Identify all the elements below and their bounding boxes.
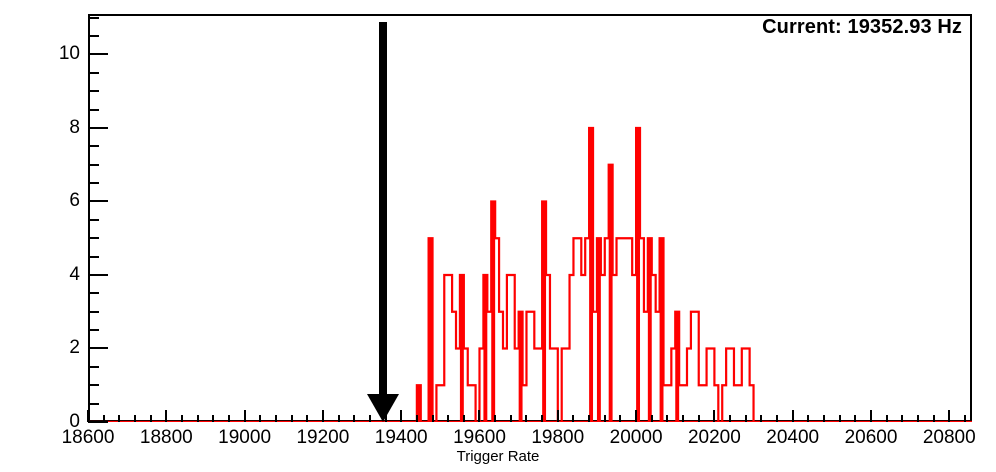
histogram-canvas <box>88 14 972 422</box>
x-axis-minor-tick <box>933 415 935 422</box>
x-axis-minor-tick <box>964 415 966 422</box>
histogram-bin <box>429 238 433 422</box>
x-axis-minor-tick <box>259 415 261 422</box>
x-axis-minor-tick <box>698 415 700 422</box>
x-axis-tick-label: 19400 <box>356 428 446 447</box>
y-axis-minor-tick <box>88 109 99 111</box>
x-axis-major-tick <box>478 410 480 422</box>
x-axis-minor-tick <box>510 415 512 422</box>
x-axis-minor-tick <box>134 415 136 422</box>
x-axis-tick-label: 18800 <box>121 428 211 447</box>
x-axis-minor-tick <box>541 415 543 422</box>
histogram-outline <box>417 128 769 422</box>
x-axis-minor-tick <box>212 415 214 422</box>
x-axis-minor-tick <box>572 415 574 422</box>
y-axis-major-tick <box>88 274 108 276</box>
x-axis-minor-tick <box>588 415 590 422</box>
x-axis-tick-label: 20400 <box>748 428 838 447</box>
x-axis-minor-tick <box>197 415 199 422</box>
x-axis-minor-tick <box>338 415 340 422</box>
x-axis-minor-tick <box>760 415 762 422</box>
histogram-bin <box>589 128 593 422</box>
x-axis-minor-tick <box>150 415 152 422</box>
y-axis-minor-tick <box>88 145 99 147</box>
x-axis-minor-tick <box>776 415 778 422</box>
x-axis-minor-tick <box>823 415 825 422</box>
x-axis-major-tick <box>322 410 324 422</box>
x-axis-minor-tick <box>619 415 621 422</box>
y-axis-minor-tick <box>88 256 99 258</box>
histogram-bin <box>636 128 640 422</box>
x-axis-minor-tick <box>729 415 731 422</box>
y-axis-minor-tick <box>88 311 99 313</box>
y-axis-minor-tick <box>88 384 99 386</box>
x-axis-tick-label: 20800 <box>904 428 994 447</box>
x-axis-minor-tick <box>525 415 527 422</box>
x-axis-minor-tick <box>228 415 230 422</box>
x-axis-minor-tick <box>385 415 387 422</box>
x-axis-minor-tick <box>917 415 919 422</box>
x-axis-minor-tick <box>807 415 809 422</box>
y-axis-tick-label: 8 <box>34 118 80 137</box>
x-axis-minor-tick <box>432 415 434 422</box>
x-axis-minor-tick <box>416 415 418 422</box>
x-axis-minor-tick <box>745 415 747 422</box>
histogram-bin <box>542 201 546 422</box>
x-axis-tick-label: 20200 <box>669 428 759 447</box>
histogram-page: 0246810 18600188001900019200194001960019… <box>0 0 996 472</box>
y-axis-major-tick <box>88 53 108 55</box>
x-axis-minor-tick <box>651 415 653 422</box>
y-axis-minor-tick <box>88 237 99 239</box>
y-axis-tick-label: 6 <box>34 191 80 210</box>
x-axis-minor-tick <box>447 415 449 422</box>
y-axis-minor-tick <box>88 292 99 294</box>
x-axis-minor-tick <box>604 415 606 422</box>
x-axis-minor-tick <box>103 415 105 422</box>
x-axis-minor-tick <box>901 415 903 422</box>
x-axis-minor-tick <box>666 415 668 422</box>
y-axis-major-tick <box>88 421 108 423</box>
x-axis-minor-tick <box>839 415 841 422</box>
y-axis-minor-tick <box>88 182 99 184</box>
x-axis-minor-tick <box>275 415 277 422</box>
x-axis-minor-tick <box>494 415 496 422</box>
x-axis-major-tick <box>87 410 89 422</box>
y-axis-tick-label: 2 <box>34 338 80 357</box>
x-axis-major-tick <box>948 410 950 422</box>
x-axis-tick-label: 19800 <box>513 428 603 447</box>
y-axis-major-tick <box>88 200 108 202</box>
x-axis-major-tick <box>713 410 715 422</box>
x-axis-minor-tick <box>463 415 465 422</box>
histogram-bin <box>460 275 464 422</box>
x-axis-tick-label: 20600 <box>826 428 916 447</box>
x-axis-major-tick <box>870 410 872 422</box>
x-axis-major-tick <box>165 410 167 422</box>
y-axis-minor-tick <box>88 403 99 405</box>
x-axis-major-tick <box>244 410 246 422</box>
x-axis-major-tick <box>792 410 794 422</box>
x-axis-tick-label: 19600 <box>434 428 524 447</box>
x-axis-major-tick <box>400 410 402 422</box>
y-axis-minor-tick <box>88 329 99 331</box>
y-axis-minor-tick <box>88 72 99 74</box>
histogram-bin <box>648 238 652 422</box>
x-axis-tick-label: 19000 <box>200 428 290 447</box>
histogram-bin <box>609 165 613 422</box>
y-axis-major-tick <box>88 127 108 129</box>
x-axis-minor-tick <box>854 415 856 422</box>
y-axis-minor-tick <box>88 90 99 92</box>
x-axis-minor-tick <box>181 415 183 422</box>
histogram-bin <box>491 201 495 422</box>
y-axis-minor-tick <box>88 35 99 37</box>
x-axis-major-tick <box>635 410 637 422</box>
histogram-bin <box>519 312 523 422</box>
x-axis-title: Trigger Rate <box>0 448 996 465</box>
x-axis-tick-label: 20000 <box>591 428 681 447</box>
histogram-bin <box>483 275 487 422</box>
x-axis-minor-tick <box>353 415 355 422</box>
y-axis-tick-label: 4 <box>34 265 80 284</box>
x-axis-minor-tick <box>682 415 684 422</box>
x-axis-tick-label: 18600 <box>43 428 133 447</box>
y-axis-tick-label: 10 <box>34 44 80 63</box>
x-axis-minor-tick <box>291 415 293 422</box>
current-rate-readout: Current: 19352.93 Hz <box>762 16 962 39</box>
x-axis-minor-tick <box>306 415 308 422</box>
y-axis-major-tick <box>88 347 108 349</box>
x-axis-minor-tick <box>886 415 888 422</box>
x-axis-minor-tick <box>369 415 371 422</box>
y-axis-minor-tick <box>88 219 99 221</box>
histogram-bin <box>675 312 679 422</box>
x-axis-major-tick <box>557 410 559 422</box>
x-axis-minor-tick <box>118 415 120 422</box>
histogram-bin <box>660 238 664 422</box>
y-axis-minor-tick <box>88 17 99 19</box>
x-axis-tick-label: 19200 <box>278 428 368 447</box>
y-axis-minor-tick <box>88 164 99 166</box>
y-axis-minor-tick <box>88 366 99 368</box>
histogram-bin <box>597 238 601 422</box>
